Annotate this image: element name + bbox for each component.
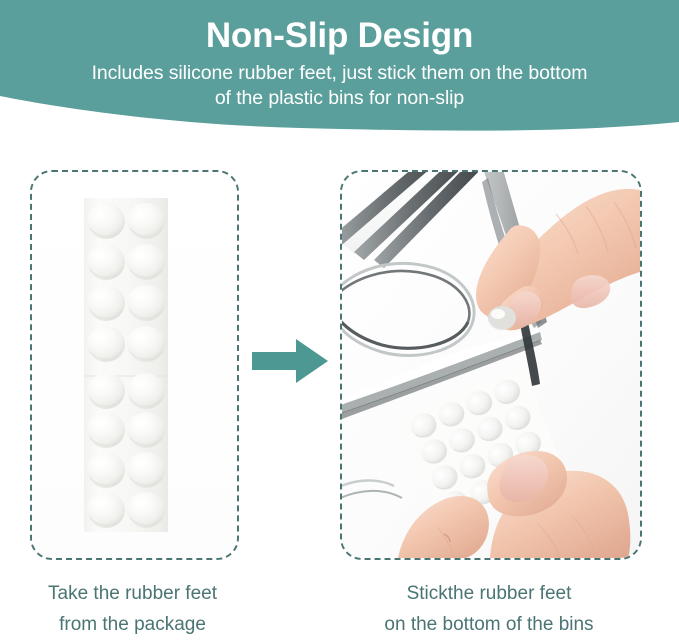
right-photo-panel <box>340 170 642 560</box>
left-caption-line-1: Take the rubber feet <box>20 578 245 609</box>
header-subtitle-line-1: Includes silicone rubber feet, just stic… <box>0 58 679 86</box>
header-banner: Non-Slip Design Includes silicone rubber… <box>0 0 679 140</box>
left-caption-line-2: from the package <box>20 609 245 640</box>
right-caption: Stickthe rubber feet on the bottom of th… <box>340 578 638 640</box>
header-text-block: Non-Slip Design Includes silicone rubber… <box>0 0 679 111</box>
left-caption: Take the rubber feet from the package <box>20 578 245 640</box>
header-subtitle-line-2: of the plastic bins for non-slip <box>0 86 679 111</box>
applying-rubber-foot-photo <box>342 172 640 558</box>
rubber-feet-package-photo <box>32 172 237 558</box>
page-title: Non-Slip Design <box>0 0 679 58</box>
right-caption-line-1: Stickthe rubber feet <box>340 578 638 609</box>
left-photo-panel <box>30 170 239 560</box>
arrow-right-icon <box>252 338 328 384</box>
right-caption-line-2: on the bottom of the bins <box>340 609 638 640</box>
